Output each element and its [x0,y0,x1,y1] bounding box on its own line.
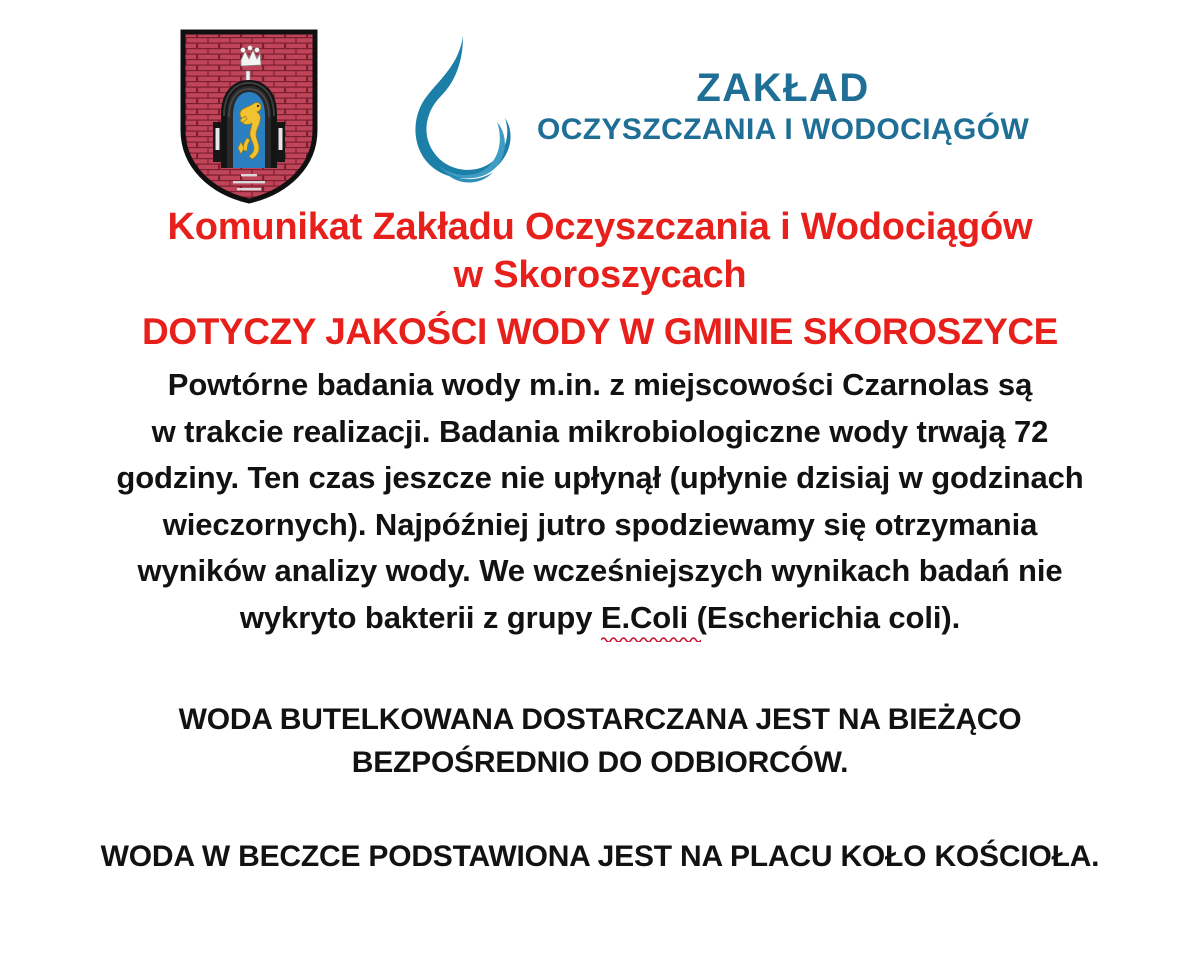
announcement-body: Powtórne badania wody m.in. z miejscowoś… [60,362,1140,641]
notice-bottled-water-line2: BEZPOŚREDNIO DO ODBIORCÓW. [58,742,1142,785]
spellcheck-misspelled-word: E.Coli [601,600,688,635]
body-line-2: w trakcie realizacji. Badania mikrobiolo… [60,409,1140,456]
body-line-1: Powtórne badania wody m.in. z miejscowoś… [60,362,1140,409]
logo-wordmark: ZAKŁAD OCZYSZCZANIA I WODOCIĄGÓW [537,68,1029,145]
logo-title-line2: OCZYSZCZANIA I WODOCIĄGÓW [537,115,1029,145]
body-line-6-suffix: (Escherichia coli). [688,600,960,635]
water-droplet-icon [401,26,531,196]
body-line-6-prefix: wykryto bakterii z grupy [240,600,601,635]
notice-bottled-water-line1: WODA BUTELKOWANA DOSTARCZANA JEST NA BIE… [58,699,1142,742]
body-line-4: wieczornych). Najpóźniej jutro spodziewa… [60,502,1140,549]
coat-of-arms-skoroszyce-icon [175,26,323,204]
notice-water-barrel-line1: WODA W BECZCE PODSTAWIONA JEST NA PLACU … [58,836,1142,879]
body-line-6: wykryto bakterii z grupy E.Coli (Escheri… [60,595,1140,642]
notice-water-barrel: WODA W BECZCE PODSTAWIONA JEST NA PLACU … [58,836,1142,879]
spellcheck-word-text: E.Coli [601,600,688,635]
announcement-content: Komunikat Zakładu Oczyszczania i Wodocią… [0,204,1200,879]
announcement-subject: DOTYCZY JAKOŚCI WODY W GMINIE SKOROSZYCE [58,310,1142,354]
body-line-3: godziny. Ten czas jeszcze nie upłynął (u… [60,455,1140,502]
page-header: ZAKŁAD OCZYSZCZANIA I WODOCIĄGÓW [0,0,1200,190]
announcement-title-line2: w Skoroszycach [58,252,1142,300]
spellcheck-squiggle-icon [601,635,701,642]
notice-bottled-water: WODA BUTELKOWANA DOSTARCZANA JEST NA BIE… [58,699,1142,784]
spacer-before-notice-1 [58,641,1142,699]
spacer-before-notice-2 [58,784,1142,836]
announcement-title: Komunikat Zakładu Oczyszczania i Wodocią… [58,204,1142,300]
announcement-title-line1: Komunikat Zakładu Oczyszczania i Wodocią… [58,204,1142,252]
announcement-page: ZAKŁAD OCZYSZCZANIA I WODOCIĄGÓW Komunik… [0,0,1200,972]
logo-title-line1: ZAKŁAD [696,68,869,108]
body-line-5: wyników analizy wody. We wcześniejszych … [60,548,1140,595]
